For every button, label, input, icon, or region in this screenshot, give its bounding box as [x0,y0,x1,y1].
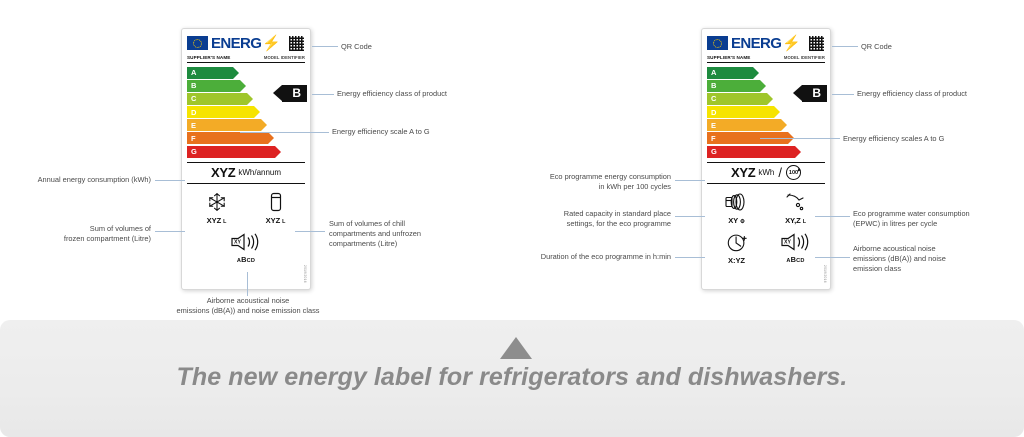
noise-cell: XY ABCD [766,229,825,265]
rated-capacity-value: XY [728,216,738,225]
leader-line [155,180,185,181]
dishwasher-icon-grid: XY ⚙ XY,Z L [707,189,825,265]
lightning-bolt-icon: ⚡ [782,36,801,51]
eco-consumption-unit: kWh [758,168,774,177]
noise-class-selected: B [791,255,797,264]
annotation-dish-water: Eco programme water consumption (EPWC) i… [853,209,1013,229]
eco-consumption-value: XYZ [731,165,755,180]
duration-cell: X:YZ [707,229,766,265]
energy-class-scale: A B C D E F G B [187,67,305,159]
grade-e: E [187,119,261,131]
cycles-icon: 100 [786,165,801,180]
supplier-name: SUPPLIER'S NAME [707,55,750,60]
grade-d: D [707,106,774,118]
caption-text: The new energy label for refrigerators a… [0,363,1024,392]
label-header: ENERG ⚡ [707,33,825,53]
leader-line [815,216,850,217]
annotation-dish-eco-consumption: Eco programme energy consumption in kWh … [520,172,671,192]
water-consumption-cell: XY,Z L [766,189,825,225]
grade-a: A [707,67,753,79]
model-identifier: MODEL IDENTIFIER [784,55,825,60]
fridge-icon-grid: XYZ L XYZ L [187,189,305,264]
rated-capacity-cell: XY ⚙ [707,189,766,225]
leader-line [312,46,338,47]
leader-line [240,132,329,133]
water-consumption-unit: L [803,219,806,225]
caption-pointer-triangle-icon [500,337,532,359]
lightning-bolt-icon: ⚡ [262,36,281,51]
noise-cell: XY ABCD [187,229,305,264]
annotation-dish-noise: Airborne acoustical noise emissions (dB(… [853,244,1013,274]
noise-class-selected: B [241,255,247,264]
leader-line [247,272,248,296]
leader-line [675,257,705,258]
regulation-code: 2019/2016 [823,265,827,283]
grade-b: B [707,80,760,92]
energy-class-scale: A B C D E F G B [707,67,825,159]
annotation-fridge-noise: Airborne acoustical noise emissions (dB(… [152,296,344,316]
label-subheader: SUPPLIER'S NAME MODEL IDENTIFIER [707,55,825,63]
grade-c: C [187,93,247,105]
snowflake-icon [207,189,227,215]
svg-text:XY: XY [784,239,791,245]
grade-d: D [187,106,254,118]
poster-canvas: The new energy label for refrigerators a… [0,0,1024,437]
annotation-fridge-frozen-volumes: Sum of volumes of frozen compartment (Li… [15,224,151,244]
model-identifier: MODEL IDENTIFIER [264,55,305,60]
eco-consumption-strip: XYZ kWh / 100 [707,162,825,184]
energ-wordmark: ENERG [731,36,781,51]
annotation-fridge-scale: Energy efficiency scale A to G [332,127,430,137]
leader-line [312,94,334,95]
annotation-dish-class: Energy efficiency class of product [857,89,967,99]
slash-separator: / [778,165,782,180]
leader-line [760,138,840,139]
grade-g: G [187,146,275,158]
leader-line [155,231,185,232]
annotation-dish-qr: QR Code [861,42,892,52]
selected-energy-class-badge: B [282,85,307,102]
grade-b: B [187,80,240,92]
speaker-icon: XY [779,229,813,255]
grade-g: G [707,146,795,158]
annotation-fridge-qr: QR Code [341,42,372,52]
leader-line [675,216,705,217]
qr-code-icon[interactable] [288,35,305,52]
fridge-compartment-icon [269,189,283,215]
energy-label-refrigerator: ENERG ⚡ SUPPLIER'S NAME MODEL IDENTIFIER… [181,28,311,290]
grade-f: F [187,132,268,144]
rated-capacity-unit: ⚙ [740,219,745,225]
eu-flag-icon [707,36,728,50]
faucet-icon [784,189,808,215]
chill-volume-value: XYZ [266,216,280,225]
annotation-dish-scale: Energy efficiency scales A to G [843,134,944,144]
plates-icon [722,189,752,215]
frozen-volume-value: XYZ [207,216,221,225]
label-header: ENERG ⚡ [187,33,305,53]
leader-line [675,180,705,181]
leader-line [832,94,854,95]
regulation-code: 2019/2016 [303,265,307,283]
label-subheader: SUPPLIER'S NAME MODEL IDENTIFIER [187,55,305,63]
annotation-fridge-class: Energy efficiency class of product [337,89,447,99]
energy-label-dishwasher: ENERG ⚡ SUPPLIER'S NAME MODEL IDENTIFIER… [701,28,831,290]
annotation-fridge-annual-consumption: Annual energy consumption (kWh) [15,175,151,185]
clock-icon [726,229,748,255]
leader-line [832,46,858,47]
supplier-name: SUPPLIER'S NAME [187,55,230,60]
energ-wordmark: ENERG [211,36,261,51]
noise-class-scale: ABCD [237,255,255,264]
chill-volume-unit: L [282,219,285,225]
svg-text:XY: XY [234,239,241,245]
noise-class-scale: ABCD [786,255,804,264]
grade-a: A [187,67,233,79]
water-consumption-value: XY,Z [785,216,801,225]
duration-value: X:YZ [728,256,745,265]
speaker-icon: XY [229,229,263,255]
frozen-compartment-cell: XYZ L [187,189,246,225]
leader-line [295,231,325,232]
frozen-volume-unit: L [223,219,226,225]
annotation-fridge-chill-volumes: Sum of volumes of chill compartments and… [329,219,479,249]
leader-line [815,257,850,258]
eu-flag-icon [187,36,208,50]
annotation-dish-rated-capacity: Rated capacity in standard place setting… [520,209,671,229]
annotation-dish-duration: Duration of the eco programme in h:min [520,252,671,262]
annual-consumption-value: XYZ [211,165,235,180]
chill-compartment-cell: XYZ L [246,189,305,225]
annual-consumption-strip: XYZ kWh/annum [187,162,305,184]
qr-code-icon[interactable] [808,35,825,52]
grade-c: C [707,93,767,105]
selected-energy-class-badge: B [802,85,827,102]
grade-e: E [707,119,781,131]
annual-consumption-unit: kWh/annum [238,168,281,177]
